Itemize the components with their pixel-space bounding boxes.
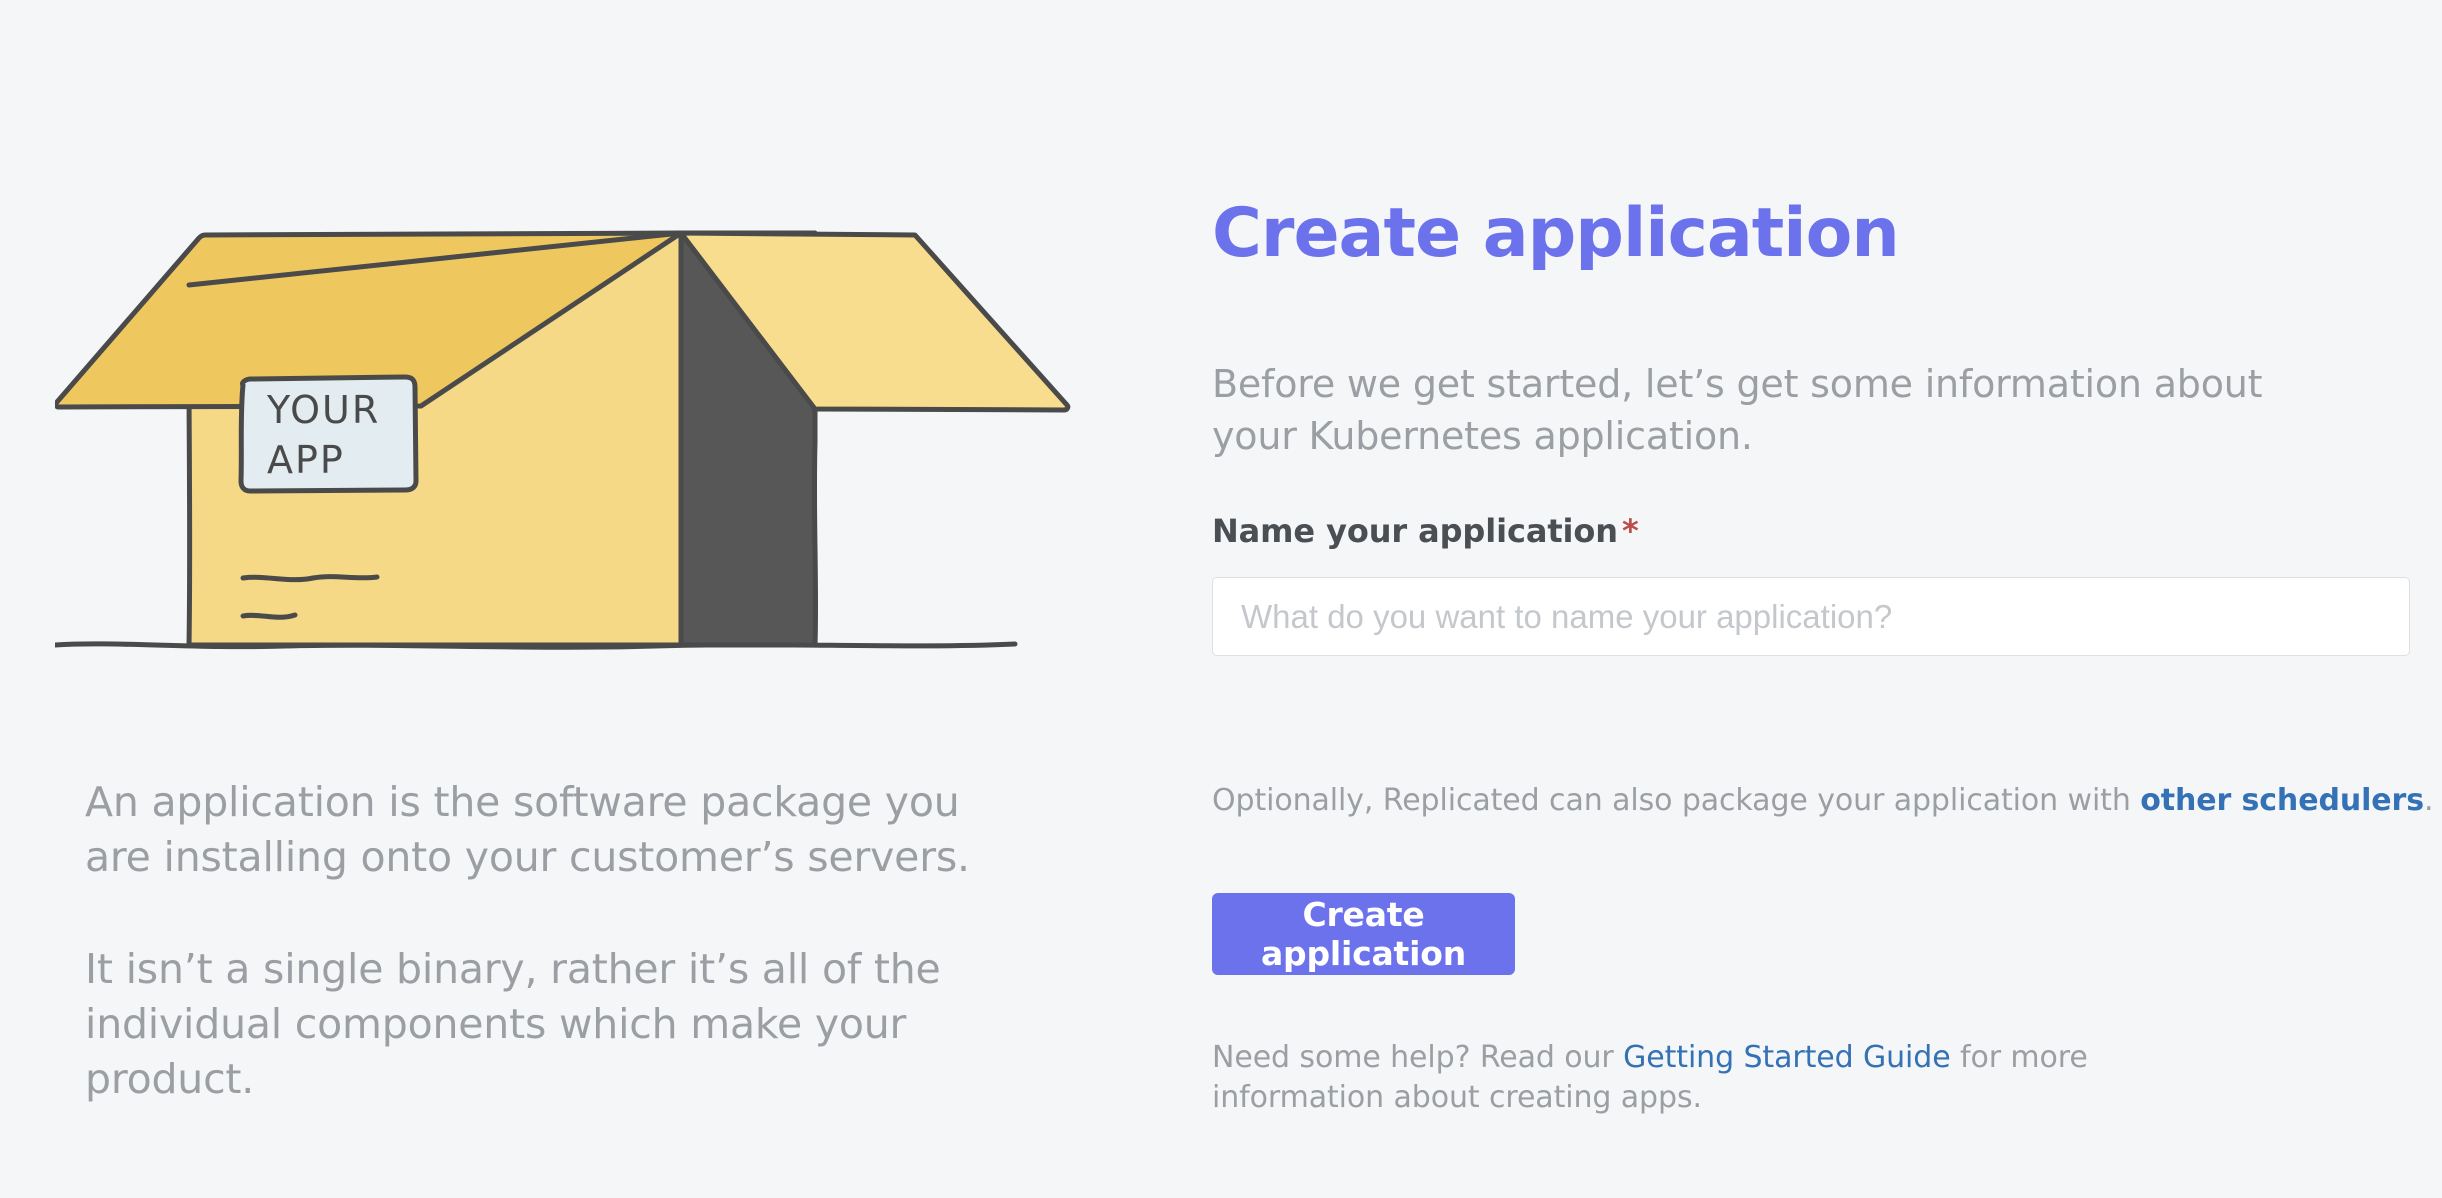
help-note-prefix: Need some help? Read our bbox=[1212, 1040, 1623, 1075]
required-asterisk: * bbox=[1622, 512, 1639, 550]
name-field-label: Name your application* bbox=[1212, 512, 1639, 550]
left-info-column: YOUR APP An application is the software … bbox=[55, 0, 1115, 1198]
cardboard-box-illustration: YOUR APP bbox=[55, 185, 1075, 730]
application-name-input[interactable] bbox=[1212, 577, 2410, 656]
left-description: An application is the software package y… bbox=[85, 775, 1005, 1108]
create-application-page: YOUR APP An application is the software … bbox=[0, 0, 2442, 1198]
other-schedulers-link[interactable]: other schedulers bbox=[2140, 783, 2424, 818]
box-label-line2: APP bbox=[267, 438, 345, 482]
getting-started-guide-link[interactable]: Getting Started Guide bbox=[1623, 1040, 1950, 1075]
page-title: Create application bbox=[1212, 200, 1899, 268]
page-subtitle: Before we get started, let’s get some in… bbox=[1212, 358, 2347, 463]
create-application-form: Create application Before we get started… bbox=[1212, 0, 2412, 1198]
schedulers-note-prefix: Optionally, Replicated can also package … bbox=[1212, 783, 2140, 818]
box-detail-line-1 bbox=[243, 577, 377, 580]
left-paragraph-1: An application is the software package y… bbox=[85, 775, 1005, 886]
schedulers-note: Optionally, Replicated can also package … bbox=[1212, 780, 2433, 822]
box-detail-line-2 bbox=[243, 615, 295, 617]
left-paragraph-2: It isn’t a single binary, rather it’s al… bbox=[85, 942, 1005, 1108]
box-label-line1: YOUR bbox=[266, 388, 380, 432]
schedulers-note-suffix: . bbox=[2424, 783, 2433, 818]
cardboard-box-svg: YOUR APP bbox=[55, 185, 1075, 730]
create-application-button[interactable]: Create application bbox=[1212, 893, 1515, 975]
help-note: Need some help? Read our Getting Started… bbox=[1212, 1038, 2112, 1118]
name-field-label-text: Name your application bbox=[1212, 512, 1618, 550]
